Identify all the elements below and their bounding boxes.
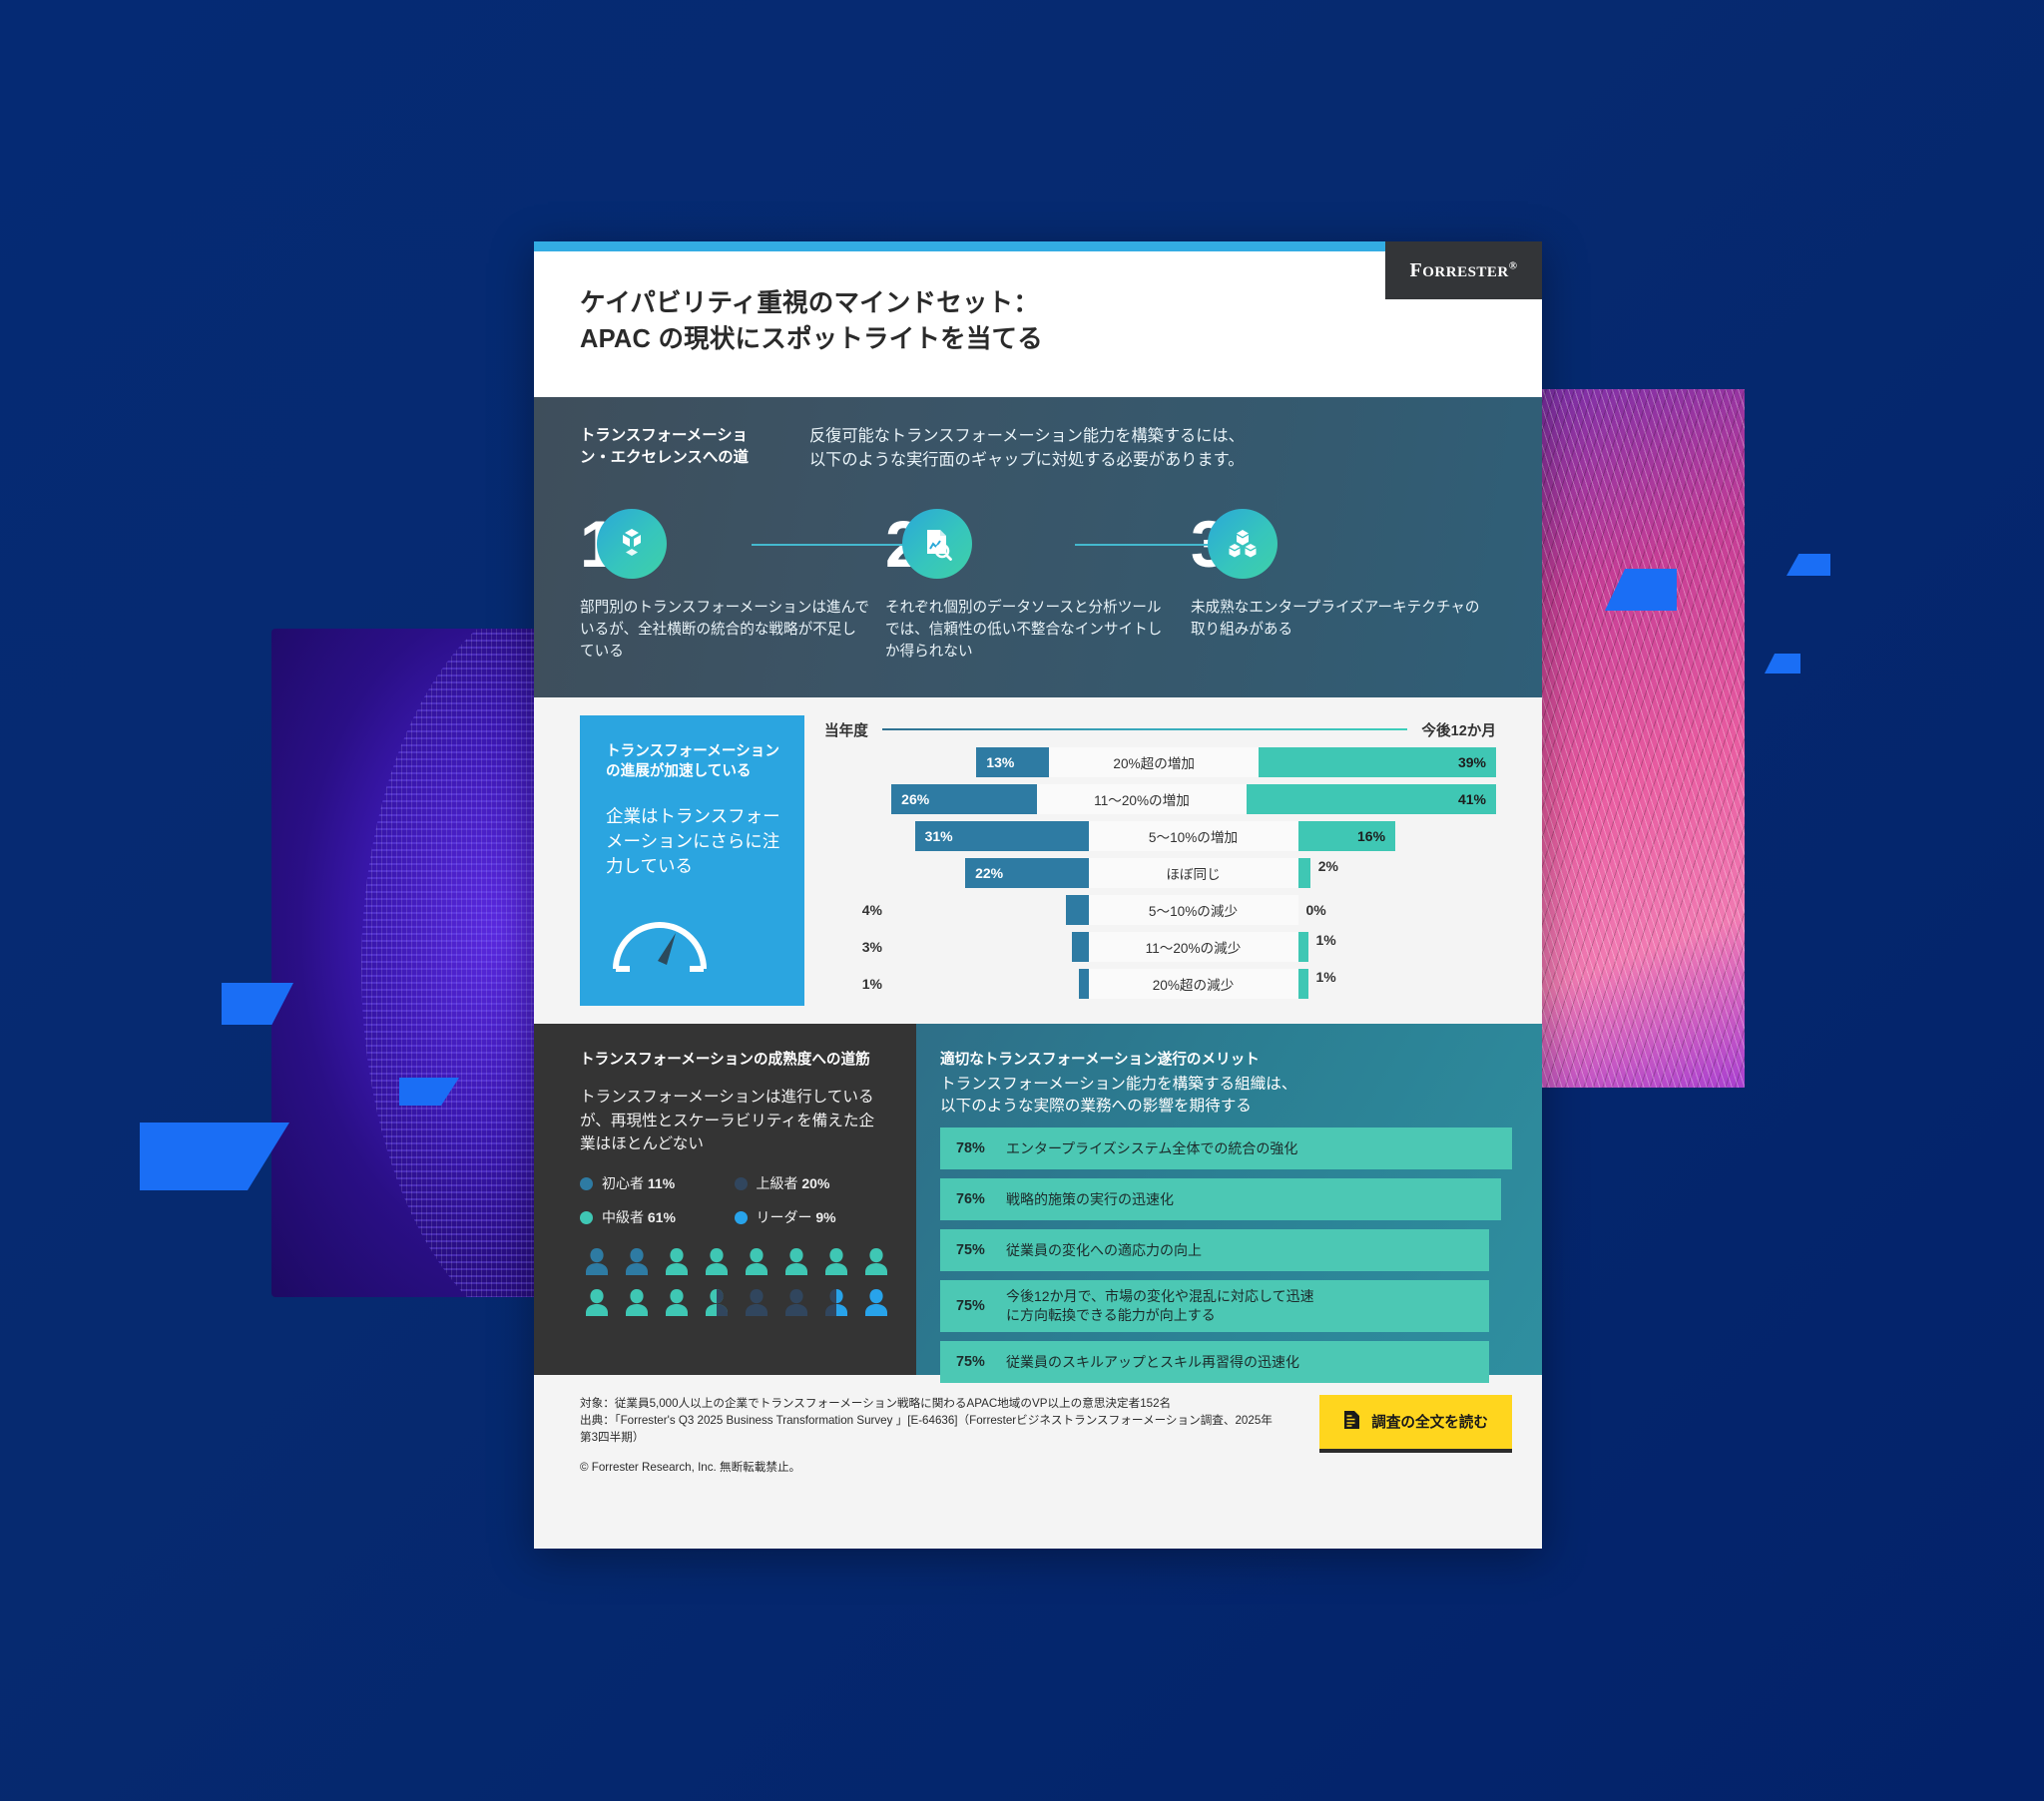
chart-row: 1%20%超の減少1% [824, 969, 1496, 999]
person-icon [740, 1245, 773, 1282]
card-header: ケイパビリティ重視のマインドセット： APAC の現状にスポットライトを当てる … [534, 251, 1542, 397]
bottom-section: トランスフォーメーションの成熟度への道筋 トランスフォーメーションは進行している… [534, 1024, 1542, 1375]
benefit-row: 76%戦略的施策の実行の迅速化 [940, 1178, 1501, 1220]
chart-left-bar: 31% [915, 821, 1089, 851]
maturity-heading: トランスフォーメーションの成熟度への道筋 [580, 1050, 888, 1071]
chart-left-bar-wrap [890, 969, 1089, 999]
decorative-chevron [1787, 554, 1830, 576]
read-full-survey-label: 調査の全文を読む [1371, 1411, 1488, 1432]
forrester-logo-text: FORRESTER® [1410, 259, 1518, 282]
acceleration-callout: トランスフォーメーションの進展が加速している 企業はトランスフォーメーションにさ… [580, 715, 804, 1006]
roadmap-step-2: 2 それぞれ個別のデータソースと分析ツールでは、信頼性の低い不整合なインサイ [885, 503, 1191, 664]
decorative-chevron [1765, 654, 1800, 674]
chart-row: 3%11〜20%の減少1% [824, 932, 1496, 962]
person-icon [700, 1286, 734, 1323]
roadmap-lede-line2: 以下のような実行面のギャップに対処する必要があります。 [809, 449, 1496, 473]
legend-label: 初心者 11% [602, 1173, 675, 1193]
acceleration-body: 企業はトランスフォーメーションにさらに注力している [606, 804, 782, 879]
chart-left-value-outside: 1% [824, 976, 890, 992]
roadmap-step-1: 1 部門別のトランスフォーメーションは進んでいるが、全社横断の統合的な戦略が不足… [580, 503, 885, 664]
footnote-source: 出典：「Forrester's Q3 2025 Business Transfo… [580, 1412, 1278, 1446]
chart-left-value: 13% [986, 754, 1014, 770]
person-icon [779, 1286, 813, 1323]
chart-right-value: 16% [1357, 828, 1385, 844]
forrester-logo: FORRESTER® [1385, 241, 1542, 299]
maturity-legend-item: 上級者 20% [735, 1173, 889, 1193]
decorative-pink-graphic [1525, 389, 1745, 1088]
benefit-text: 戦略的施策の実行の迅速化 [1006, 1190, 1174, 1209]
person-icon [819, 1286, 853, 1323]
chart-right-bar [1298, 858, 1310, 888]
people-pictogram [580, 1245, 881, 1323]
chart-left-bar [1072, 932, 1089, 962]
step-description: 未成熟なエンタープライズアーキテクチャの取り組みがある [1191, 598, 1480, 642]
chart-category-label: 20%超の減少 [1089, 969, 1298, 999]
chart-right-bar: 16% [1298, 821, 1396, 851]
benefit-text: 従業員のスキルアップとスキル再習得の迅速化 [1006, 1353, 1299, 1372]
chart-right-bar-wrap: 16% [1298, 821, 1497, 851]
legend-dot-icon [735, 1211, 748, 1224]
chart-right-bar-wrap: 0% [1298, 902, 1497, 918]
roadmap-steps: 1 部門別のトランスフォーメーションは進んでいるが、全社横断の統合的な戦略が不足… [580, 503, 1496, 664]
step-description: 部門別のトランスフォーメーションは進んでいるが、全社横断の統合的な戦略が不足して… [580, 598, 869, 664]
person-icon [819, 1245, 853, 1282]
benefit-percent: 75% [956, 1298, 1006, 1314]
chart-category-label: ほぼ同じ [1089, 858, 1298, 888]
chart-left-bar-wrap: 31% [890, 821, 1089, 851]
step-description: それぞれ個別のデータソースと分析ツールでは、信頼性の低い不整合なインサイトしか得… [885, 598, 1175, 664]
chart-right-bar: 39% [1259, 747, 1496, 777]
maturity-body: トランスフォーメーションは進行しているが、再現性とスケーラビリティを備えた企業は… [580, 1086, 888, 1155]
document-icon [1343, 1410, 1360, 1434]
step-connector [1075, 544, 1229, 546]
chart-right-value-outside: 0% [1298, 902, 1354, 918]
card-footer: 対象：従業員5,000人以上の企業でトランスフォーメーション戦略に関わるAPAC… [534, 1375, 1542, 1499]
benefit-percent: 75% [956, 1354, 1006, 1370]
chart-right-bar-wrap: 41% [1247, 784, 1496, 814]
chart-legend-left: 当年度 [824, 719, 868, 740]
package-box-icon [597, 509, 667, 579]
benefits-panel: 適切なトランスフォーメーション遂行のメリット トランスフォーメーション能力を構築… [916, 1024, 1542, 1375]
person-icon [779, 1245, 813, 1282]
step-connector [752, 544, 905, 546]
chart-row: 4%5〜10%の減少0% [824, 895, 1496, 925]
person-icon [660, 1286, 694, 1323]
chart-right-value-outside: 2% [1310, 858, 1366, 888]
roadmap-section: トランスフォーメーション・エクセレンスへの道 反復可能なトランスフォーメーション… [534, 397, 1542, 697]
chart-left-value-outside: 4% [824, 902, 890, 918]
person-icon [660, 1245, 694, 1282]
legend-dot-icon [580, 1211, 593, 1224]
benefit-percent: 75% [956, 1242, 1006, 1258]
benefit-row: 78%エンタープライズシステム全体での統合の強化 [940, 1127, 1512, 1169]
chart-legend: 当年度 今後12か月 [824, 719, 1496, 740]
page-title-line2: APAC の現状にスポットライトを当てる [580, 321, 1542, 357]
chart-right-bar: 41% [1247, 784, 1496, 814]
chart-left-bar: 22% [965, 858, 1088, 888]
chart-right-value-outside: 1% [1308, 932, 1364, 962]
chart-right-bar [1298, 969, 1308, 999]
benefit-percent: 78% [956, 1140, 1006, 1156]
person-icon [740, 1286, 773, 1323]
benefits-body-line1: トランスフォーメーション能力を構築する組織は、 [940, 1074, 1512, 1097]
benefit-percent: 76% [956, 1191, 1006, 1207]
chart-left-bar-wrap: 26% [890, 784, 1037, 814]
benefit-text: 従業員の変化への適応力の向上 [1006, 1241, 1202, 1260]
chart-category-label: 11〜20%の減少 [1089, 932, 1298, 962]
benefits-body: トランスフォーメーション能力を構築する組織は、 以下のような実際の業務への影響を… [940, 1074, 1512, 1120]
chart-left-bar-wrap [890, 932, 1089, 962]
chart-right-value: 39% [1458, 754, 1486, 770]
person-icon [580, 1245, 614, 1282]
chart-legend-right: 今後12か月 [1421, 719, 1496, 740]
page-background: ケイパビリティ重視のマインドセット： APAC の現状にスポットライトを当てる … [0, 0, 2044, 1801]
chart-category-label: 11〜20%の増加 [1037, 784, 1247, 814]
chart-row: 13%20%超の増加39% [824, 747, 1496, 777]
chart-bar-rows: 13%20%超の増加39%26%11〜20%の増加41%31%5〜10%の増加1… [824, 747, 1496, 999]
chart-left-value: 31% [925, 828, 953, 844]
chart-left-bar-wrap: 13% [890, 747, 1049, 777]
chart-category-label: 5〜10%の増加 [1089, 821, 1298, 851]
chart-category-label: 20%超の増加 [1049, 747, 1259, 777]
chart-right-bar-wrap: 1% [1298, 932, 1497, 962]
roadmap-lede-line1: 反復可能なトランスフォーメーション能力を構築するには、 [809, 425, 1496, 449]
chart-right-bar-wrap: 39% [1259, 747, 1496, 777]
legend-dot-icon [735, 1177, 748, 1190]
footnote-base: 対象：従業員5,000人以上の企業でトランスフォーメーション戦略に関わるAPAC… [580, 1395, 1278, 1412]
decorative-chevron [140, 1123, 289, 1190]
roadmap-step-3: 3 未成熟なエンタープライズアーキテクチャの取り組みがある [1191, 503, 1496, 664]
chart-row: 26%11〜20%の増加41% [824, 784, 1496, 814]
legend-label: 上級者 20% [757, 1173, 830, 1193]
chart-right-bar-wrap: 1% [1298, 969, 1497, 999]
chart-section: トランスフォーメーションの進展が加速している 企業はトランスフォーメーションにさ… [534, 697, 1542, 1024]
benefit-row: 75%今後12か月で、市場の変化や混乱に対応して迅速に方向転換できる能力が向上す… [940, 1280, 1489, 1332]
chart-left-bar [1066, 895, 1088, 925]
footnote: 対象：従業員5,000人以上の企業でトランスフォーメーション戦略に関わるAPAC… [580, 1395, 1278, 1477]
chart-left-bar-wrap: 22% [890, 858, 1089, 888]
person-icon [700, 1245, 734, 1282]
footnote-copyright: © Forrester Research, Inc. 無断転載禁止。 [580, 1459, 1278, 1476]
chart-left-bar: 26% [891, 784, 1037, 814]
roadmap-lede: 反復可能なトランスフォーメーション能力を構築するには、 以下のような実行面のギャ… [809, 425, 1496, 473]
chart-right-value-outside: 1% [1308, 969, 1364, 999]
infographic-card: ケイパビリティ重視のマインドセット： APAC の現状にスポットライトを当てる … [534, 241, 1542, 1549]
acceleration-heading: トランスフォーメーションの進展が加速している [606, 741, 782, 782]
chart-left-value-outside: 3% [824, 939, 890, 955]
diverging-bar-chart: 当年度 今後12か月 13%20%超の増加39%26%11〜20%の増加41%3… [804, 697, 1542, 1024]
chart-left-value: 26% [901, 791, 929, 807]
building-blocks-icon [1208, 509, 1277, 579]
person-icon [620, 1245, 654, 1282]
person-icon [620, 1286, 654, 1323]
benefit-row: 75%従業員のスキルアップとスキル再習得の迅速化 [940, 1341, 1489, 1383]
benefits-body-line2: 以下のような実際の業務への影響を期待する [940, 1096, 1512, 1119]
maturity-panel: トランスフォーメーションの成熟度への道筋 トランスフォーメーションは進行している… [534, 1024, 916, 1375]
benefit-text: 今後12か月で、市場の変化や混乱に対応して迅速に方向転換できる能力が向上する [1006, 1287, 1314, 1325]
roadmap-kicker: トランスフォーメーション・エクセレンスへの道 [580, 425, 775, 473]
maturity-legend-item: 初心者 11% [580, 1173, 735, 1193]
chart-right-bar [1298, 932, 1308, 962]
chart-left-bar [1079, 969, 1089, 999]
chart-left-bar: 13% [976, 747, 1049, 777]
legend-label: 中級者 61% [602, 1207, 676, 1227]
benefits-heading: 適切なトランスフォーメーション遂行のメリット [940, 1048, 1512, 1069]
maturity-legend: 初心者 11%上級者 20%中級者 61%リーダー 9% [580, 1173, 888, 1241]
chart-left-value: 22% [975, 865, 1003, 881]
maturity-legend-item: リーダー 9% [735, 1207, 889, 1227]
benefit-row: 75%従業員の変化への適応力の向上 [940, 1229, 1489, 1271]
person-icon [580, 1286, 614, 1323]
legend-dot-icon [580, 1177, 593, 1190]
benefit-text: エンタープライズシステム全体での統合の強化 [1006, 1139, 1297, 1158]
chart-legend-rule [882, 728, 1408, 730]
chart-right-value: 41% [1458, 791, 1486, 807]
read-full-survey-button[interactable]: 調査の全文を読む [1319, 1395, 1512, 1453]
chart-row: 22%ほぼ同じ2% [824, 858, 1496, 888]
person-icon [859, 1245, 893, 1282]
maturity-legend-item: 中級者 61% [580, 1207, 735, 1227]
speedometer-gauge-icon [606, 905, 782, 984]
chart-right-bar-wrap: 2% [1298, 858, 1497, 888]
chart-category-label: 5〜10%の減少 [1089, 895, 1298, 925]
chart-left-bar-wrap [890, 895, 1089, 925]
benefit-rows: 78%エンタープライズシステム全体での統合の強化76%戦略的施策の実行の迅速化7… [940, 1127, 1512, 1383]
legend-label: リーダー 9% [757, 1207, 836, 1227]
person-icon [859, 1286, 893, 1323]
chart-row: 31%5〜10%の増加16% [824, 821, 1496, 851]
document-search-chart-icon [902, 509, 972, 579]
